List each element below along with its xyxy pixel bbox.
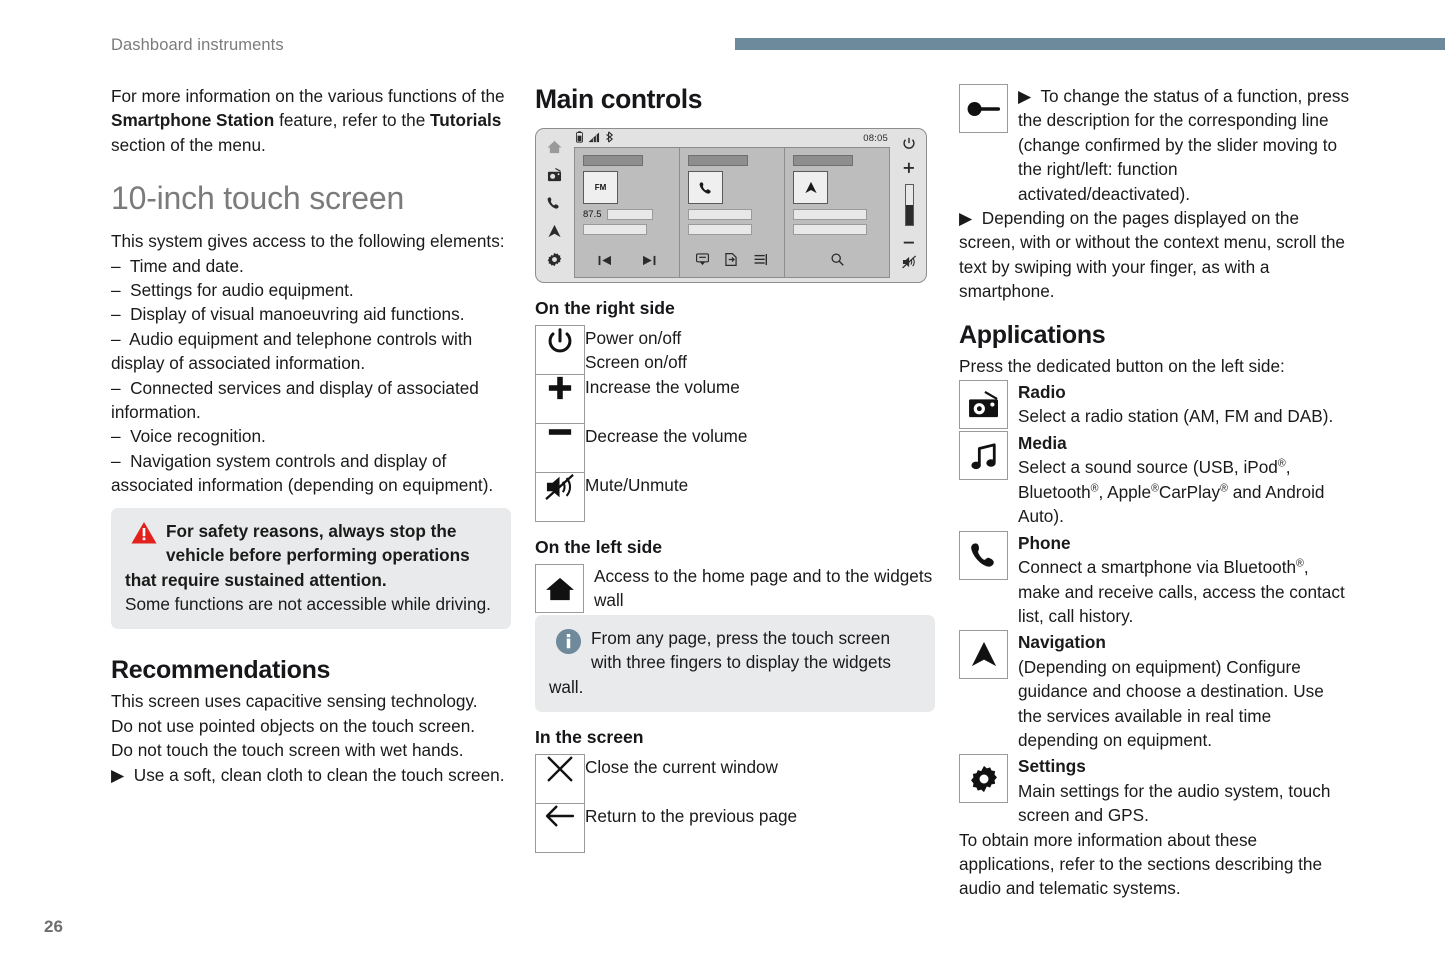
return-page-label: Return to the previous page: [585, 804, 798, 853]
plus-icon: [903, 161, 915, 179]
intro-part2: feature, refer to the: [274, 110, 430, 130]
widget-frequency-row: 87.5: [583, 209, 671, 220]
widget-line: [793, 224, 867, 235]
feature-list: – Time and date. – Settings for audio eq…: [111, 254, 511, 498]
increase-volume-label: Increase the volume: [585, 375, 748, 424]
widget-controls: [583, 253, 671, 272]
toggle-slider-icon: [959, 84, 1008, 133]
intro-bold-tutorials: Tutorials: [430, 110, 501, 130]
on-the-right-side-heading: On the right side: [535, 297, 935, 319]
widget-frequency-value: 87.5: [583, 209, 602, 220]
info-box: From any page, press the touch screen wi…: [535, 615, 935, 712]
recommendation-arrow-label: Use a soft, clean cloth to clean the tou…: [134, 765, 505, 785]
widget-title-bar: [793, 155, 853, 166]
manual-page: Dashboard instruments For more informati…: [0, 0, 1445, 963]
application-name: Phone: [1018, 533, 1071, 553]
power-label-line2: Screen on/off: [585, 350, 747, 374]
home-label: Access to the home page and to the widge…: [594, 564, 935, 613]
home-icon: [535, 564, 584, 613]
scroll-arrow-label: Depending on the pages displayed on the …: [959, 208, 1345, 301]
list-item: – Audio equipment and telephone controls…: [111, 327, 511, 376]
list-item: – Voice recognition.: [111, 424, 511, 448]
illustration-status-bar: 08:05: [572, 129, 892, 147]
main-controls-heading: Main controls: [535, 84, 935, 114]
table-row: Decrease the volume: [536, 424, 748, 473]
toggle-arrow-label: To change the status of a function, pres…: [1018, 86, 1349, 204]
list-item-label: Audio equipment and telephone controls w…: [111, 329, 472, 373]
voicemail-icon: [696, 253, 709, 271]
volume-slider[interactable]: [905, 184, 914, 226]
illustration-widgets-wall: FM 87.5: [574, 147, 890, 278]
phone-icon: [959, 531, 1008, 580]
table-row: Close the current window: [536, 755, 798, 804]
page-title: 10-inch touch screen: [111, 179, 511, 217]
lead-text: This system gives access to the followin…: [111, 229, 511, 253]
application-media: Media Select a sound source (USB, iPod®,…: [959, 431, 1351, 529]
touchscreen-illustration: 08:05 FM 87.5: [535, 128, 927, 283]
widget-line: [688, 209, 752, 220]
list-item: – Settings for audio equipment.: [111, 278, 511, 302]
table-row: Return to the previous page: [536, 804, 798, 853]
application-name: Radio: [1018, 382, 1066, 402]
application-phone: Phone Connect a smartphone via Bluetooth…: [959, 531, 1351, 629]
intro-part1: For more information on the various func…: [111, 86, 505, 106]
recommendation-line: Do not use pointed objects on the touch …: [111, 714, 511, 738]
recommendations-heading: Recommendations: [111, 655, 511, 685]
toggle-arrow-text: ▶ To change the status of a function, pr…: [1018, 84, 1351, 206]
applications-heading: Applications: [959, 320, 1351, 350]
power-icon: [902, 137, 916, 156]
next-track-icon: [642, 253, 656, 271]
application-desc: Connect a smartphone via Bluetooth®, mak…: [1018, 555, 1351, 628]
power-label-line1: Power on/off: [585, 326, 747, 350]
list-item-label: Display of visual manoeuvring aid functi…: [130, 304, 464, 324]
widget-navigation: [784, 148, 889, 277]
mute-label: Mute/Unmute: [585, 473, 748, 522]
warning-normal-text: Some functions are not accessible while …: [125, 592, 497, 616]
widget-phone: [679, 148, 784, 277]
mute-icon: [902, 255, 917, 274]
signal-icon: [588, 132, 600, 145]
table-row: Power on/off Screen on/off: [536, 326, 748, 375]
list-item-label: Voice recognition.: [130, 426, 266, 446]
settings-gear-icon: [547, 252, 562, 272]
search-icon: [831, 253, 844, 271]
widget-tile: [688, 171, 723, 204]
application-desc: Select a radio station (AM, FM and DAB).: [1018, 404, 1351, 428]
column-right: ▶ To change the status of a function, pr…: [959, 84, 1351, 901]
power-icon: [536, 326, 585, 375]
home-control-row: Access to the home page and to the widge…: [535, 564, 935, 613]
recommendation-line: Do not touch the touch screen with wet h…: [111, 738, 511, 762]
application-settings: Settings Main settings for the audio sys…: [959, 754, 1351, 827]
intro-paragraph: For more information on the various func…: [111, 84, 511, 157]
in-screen-control-table: Close the current window Return to the p…: [535, 754, 798, 853]
widget-radio: FM 87.5: [575, 148, 679, 277]
widget-tile: [793, 171, 828, 204]
list-item: – Time and date.: [111, 254, 511, 278]
table-row: Mute/Unmute: [536, 473, 748, 522]
list-item-label: Time and date.: [130, 256, 244, 276]
intro-part3: section of the menu.: [111, 135, 266, 155]
call-out-icon: [725, 253, 737, 271]
decrease-volume-label: Decrease the volume: [585, 424, 748, 473]
plus-icon: [536, 375, 585, 424]
mute-icon: [536, 473, 585, 522]
list-item-label: Connected services and display of associ…: [111, 378, 479, 422]
applications-closing: To obtain more information about these a…: [959, 828, 1351, 901]
radio-icon: [959, 380, 1008, 429]
scroll-arrow-text: ▶ Depending on the pages displayed on th…: [959, 206, 1351, 304]
info-text: From any page, press the touch screen wi…: [549, 628, 891, 697]
page-number: 26: [44, 917, 63, 937]
application-navigation: Navigation (Depending on equipment) Conf…: [959, 630, 1351, 752]
warning-triangle-icon: [131, 521, 157, 551]
toggle-info-row: ▶ To change the status of a function, pr…: [959, 84, 1351, 206]
widget-controls: [793, 253, 881, 272]
widget-title-bar: [583, 155, 643, 166]
illustration-left-rail: [536, 129, 572, 282]
table-row: Increase the volume: [536, 375, 748, 424]
on-the-left-side-heading: On the left side: [535, 536, 935, 558]
applications-intro: Press the dedicated button on the left s…: [959, 354, 1351, 378]
phone-icon: [547, 196, 561, 215]
widget-tile: FM: [583, 171, 618, 204]
recommendation-line: This screen uses capacitive sensing tech…: [111, 689, 511, 713]
back-arrow-icon: [536, 804, 585, 853]
column-left: For more information on the various func…: [111, 84, 511, 787]
breadcrumb: Dashboard instruments: [111, 36, 284, 55]
bluetooth-icon: [605, 131, 614, 145]
battery-icon: [576, 131, 583, 145]
list-item-label: Navigation system controls and display o…: [111, 451, 493, 495]
power-label: Power on/off Screen on/off: [585, 326, 748, 375]
widget-line: [688, 224, 752, 235]
application-name: Media: [1018, 433, 1067, 453]
info-icon: [555, 628, 582, 661]
warning-bold-text: For safety reasons, always stop the vehi…: [125, 521, 470, 590]
column-middle: Main controls: [535, 84, 935, 853]
settings-gear-icon: [959, 754, 1008, 803]
widget-line: [607, 209, 653, 220]
widget-controls: [688, 253, 776, 272]
recommendation-arrow-line: ▶ Use a soft, clean cloth to clean the t…: [111, 763, 511, 787]
list-item: – Connected services and display of asso…: [111, 376, 511, 425]
previous-track-icon: [598, 253, 612, 271]
in-the-screen-heading: In the screen: [535, 726, 935, 748]
illustration-clock: 08:05: [863, 133, 888, 144]
list-item: – Display of visual manoeuvring aid func…: [111, 302, 511, 326]
close-window-label: Close the current window: [585, 755, 798, 804]
list-item: – Navigation system controls and display…: [111, 449, 511, 498]
application-desc: Main settings for the audio system, touc…: [1018, 779, 1351, 828]
intro-bold-smartphone-station: Smartphone Station: [111, 110, 274, 130]
navigation-icon: [959, 630, 1008, 679]
application-name: Navigation: [1018, 632, 1106, 652]
application-radio: Radio Select a radio station (AM, FM and…: [959, 380, 1351, 429]
illustration-right-rail: [892, 129, 926, 282]
minus-icon: [536, 424, 585, 473]
list-item-label: Settings for audio equipment.: [130, 280, 354, 300]
call-list-icon: [754, 253, 768, 271]
music-note-icon: [959, 431, 1008, 480]
illustration-screen-area: 08:05 FM 87.5: [572, 129, 892, 282]
minus-icon: [903, 232, 915, 250]
application-desc: Select a sound source (USB, iPod®, Bluet…: [1018, 455, 1351, 528]
widget-line: [793, 209, 867, 220]
widget-title-bar: [688, 155, 748, 166]
application-desc: (Depending on equipment) Configure guida…: [1018, 655, 1351, 753]
widget-line: [583, 224, 647, 235]
home-icon: [547, 140, 562, 159]
navigation-icon: [547, 224, 562, 243]
radio-icon: [547, 168, 562, 187]
close-x-icon: [536, 755, 585, 804]
safety-warning-box: For safety reasons, always stop the vehi…: [111, 508, 511, 630]
header-rule: [735, 38, 1445, 50]
application-name: Settings: [1018, 756, 1086, 776]
right-side-control-table: Power on/off Screen on/off Increase the …: [535, 325, 748, 522]
